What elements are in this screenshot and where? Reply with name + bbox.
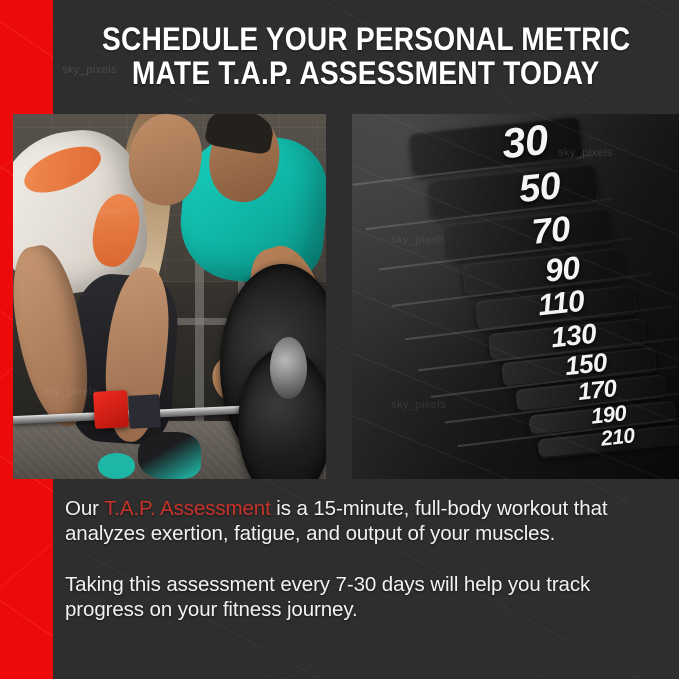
body-copy: Our T.A.P. Assessment is a 15-minute, fu… [65,496,645,622]
barbell-plate-hub [270,337,308,399]
promo-poster: SCHEDULE YOUR PERSONAL METRIC MATE T.A.P… [0,0,679,679]
photo-row: sky_pixels sky_pixels [0,114,679,479]
headline-line-2: MATE T.A.P. ASSESSMENT TODAY [132,56,600,90]
lifter-shoe-front [138,432,201,479]
photo-deadlift-training: sky_pixels sky_pixels [13,114,326,479]
lifter-shoe-back [98,453,136,479]
paragraph-1: Our T.A.P. Assessment is a 15-minute, fu… [65,496,645,546]
headline-block: SCHEDULE YOUR PERSONAL METRIC MATE T.A.P… [53,0,679,112]
paragraph-2: Taking this assessment every 7-30 days w… [65,572,645,622]
metric-mate-sensor-screen [128,394,161,428]
weight-label: 210 [599,424,635,451]
metric-mate-sensor [93,391,129,429]
weight-label: 70 [530,209,572,253]
weight-label: 50 [517,165,563,212]
tap-assessment-accent: T.A.P. Assessment [104,497,271,520]
weight-label: 30 [500,115,550,168]
weight-label: 110 [537,285,587,324]
weight-label: 90 [543,249,581,289]
headline-line-1: SCHEDULE YOUR PERSONAL METRIC [102,22,630,56]
photo-weight-stack: 30 50 70 90 110 130 150 170 190 210 sky_… [352,114,679,479]
paragraph-1-prefix: Our [65,497,104,520]
